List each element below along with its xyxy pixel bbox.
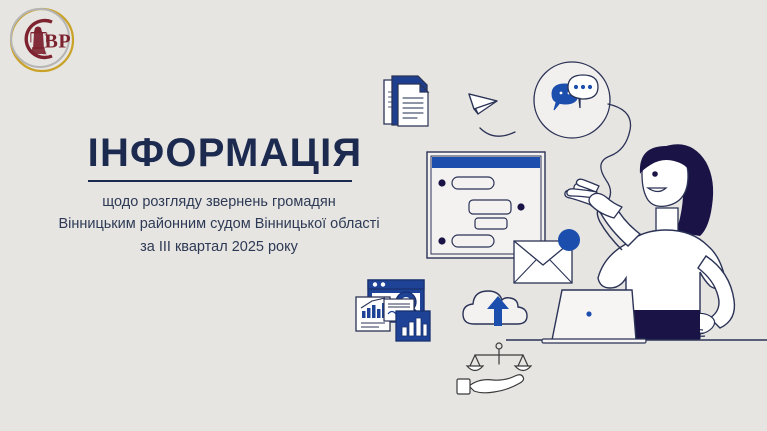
form-field-4 xyxy=(452,235,494,247)
woman-open-hand xyxy=(565,179,622,218)
analytics-dashboard-icon xyxy=(352,277,444,347)
logo-letters: BP xyxy=(45,31,72,53)
documents-stack-icon xyxy=(380,72,450,142)
laptop-icon xyxy=(536,288,656,348)
window-title-bar xyxy=(432,157,540,168)
scales-pan-right xyxy=(515,366,531,371)
logo-subtext: & xyxy=(43,52,47,57)
court-logo: BP & xyxy=(8,6,76,74)
title-underline-rule xyxy=(88,180,352,182)
subtitle-line-1: щодо розгляду звернень громадян xyxy=(0,191,420,213)
subtitle-line-3: за III квартал 2025 року xyxy=(0,236,420,258)
heading-block: ІНФОРМАЦІЯ щодо розгляду звернень громад… xyxy=(0,132,420,258)
dashboard-bar-chart-card xyxy=(396,311,430,341)
subtitle-line-2: Вінницьким районним судом Вінницької обл… xyxy=(0,213,420,235)
woman-eye xyxy=(652,171,658,177)
scales-top-knob xyxy=(496,343,502,349)
form-field-2 xyxy=(469,200,511,214)
cloud-upload-icon xyxy=(462,284,538,339)
form-field-1 xyxy=(452,177,494,189)
laptop-camera-dot xyxy=(586,311,591,316)
scales-pan-left xyxy=(467,366,483,371)
poster-canvas: BP & ІНФОРМАЦІЯ щодо розгляду звернень г… xyxy=(0,0,767,431)
supporting-hand xyxy=(457,375,524,394)
scales-of-justice-icon xyxy=(455,342,545,404)
form-field-3 xyxy=(475,218,507,229)
hand-cuff xyxy=(457,379,470,394)
chat-dots xyxy=(574,85,592,89)
laptop-base xyxy=(542,339,646,343)
laptop-screen xyxy=(552,290,636,340)
plane-trail-curve xyxy=(480,128,515,136)
page-title: ІНФОРМАЦІЯ xyxy=(0,132,420,174)
